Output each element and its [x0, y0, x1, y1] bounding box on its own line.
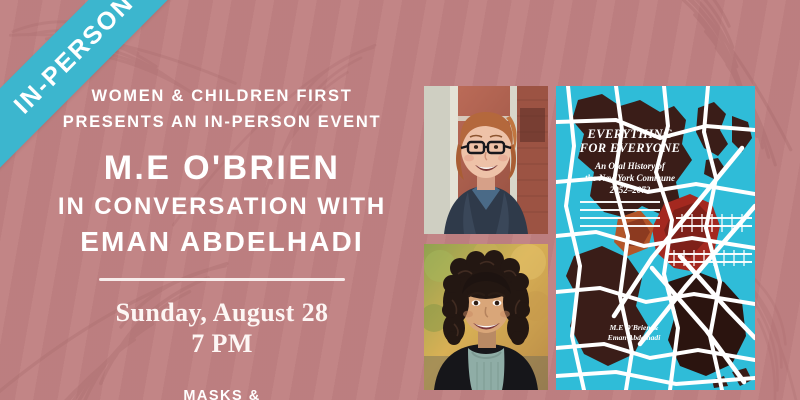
- cohost-name: EMAN ABDELHADI: [18, 227, 426, 257]
- book-title-line-1: EVERYTHING: [586, 127, 672, 141]
- book-cover: EVERYTHING FOR EVERYONE An Oral History …: [556, 86, 755, 390]
- presenter-line-2: PRESENTS AN IN-PERSON EVENT: [18, 110, 426, 136]
- conversation-connector: IN CONVERSATION WITH: [18, 194, 426, 221]
- book-authors-line-2: Eman Abdelhadi: [607, 333, 662, 342]
- presenter-line-1: WOMEN & CHILDREN FIRST: [18, 84, 426, 110]
- event-time: 7 PM: [18, 328, 426, 359]
- divider-rule: [99, 278, 345, 281]
- attendance-requirements: MASKS & PROOF OF VACCINATION REQUIRED: [18, 385, 426, 400]
- book-subtitle-line-2: the New York Commune: [585, 173, 675, 183]
- requirement-line-1: MASKS &: [18, 385, 426, 400]
- book-subtitle-line-3: 2052–2072: [609, 185, 651, 195]
- event-date: Sunday, August 28: [18, 297, 426, 328]
- event-details-column: WOMEN & CHILDREN FIRST PRESENTS AN IN-PE…: [18, 84, 426, 400]
- book-authors-line-1: M.E O'Brien &: [609, 323, 659, 332]
- speaker-photo-abdelhadi: [424, 244, 548, 390]
- speaker-photo-obrien: [424, 86, 548, 234]
- event-poster: IN-PERSON WOMEN & CHILDREN FIRST PRESENT…: [0, 0, 800, 400]
- book-title-line-2: FOR EVERYONE: [579, 141, 681, 155]
- headliner-name: M.E O'BRIEN: [18, 151, 426, 187]
- book-subtitle-line-1: An Oral History of: [594, 161, 666, 171]
